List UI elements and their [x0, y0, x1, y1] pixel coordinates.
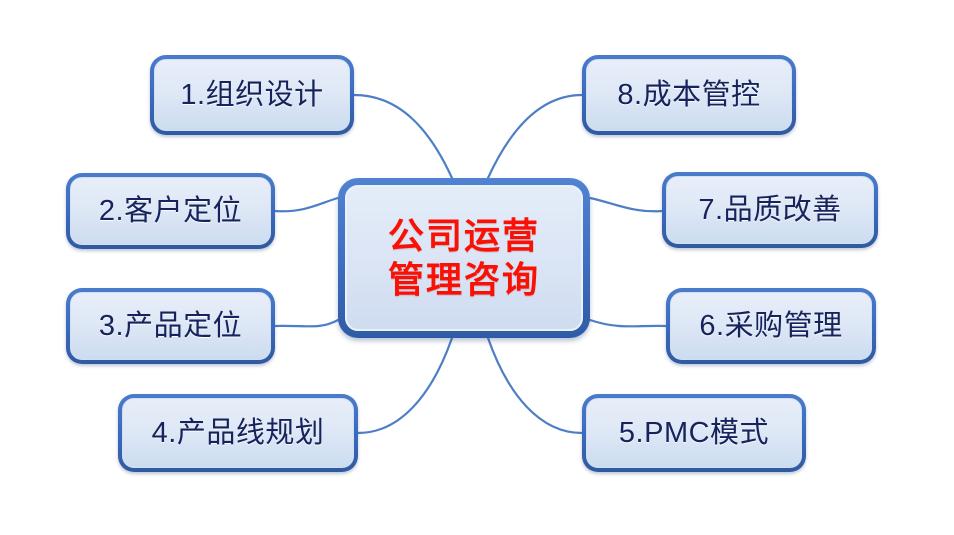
connector-node-2-to-center: [275, 198, 338, 211]
node-1-label: 1.组织设计: [180, 81, 323, 110]
node-8-label: 8.成本管控: [617, 81, 760, 110]
mindmap-diagram: 1.组织设计 2.客户定位 3.产品定位 4.产品线规划 5.PMC模式 6.采…: [0, 0, 954, 535]
connector-node-4-to-center: [358, 338, 452, 433]
node-3-product-positioning[interactable]: 3.产品定位: [66, 288, 275, 364]
node-2-customer-positioning[interactable]: 2.客户定位: [66, 173, 275, 249]
node-3-inner: 3.产品定位: [70, 292, 271, 360]
node-2-inner: 2.客户定位: [70, 177, 271, 245]
node-2-label: 2.客户定位: [99, 197, 242, 226]
node-6-label: 6.采购管理: [699, 312, 842, 341]
center-node-line-2: 管理咨询: [388, 258, 540, 302]
connector-node-3-to-center: [275, 320, 338, 326]
node-5-label: 5.PMC模式: [619, 419, 769, 448]
center-node-inner: 公司运营 管理咨询: [345, 185, 583, 331]
node-8-inner: 8.成本管控: [586, 59, 792, 131]
node-5-inner: 5.PMC模式: [586, 398, 802, 468]
node-7-quality-improvement[interactable]: 7.品质改善: [662, 172, 878, 248]
node-5-pmc-model[interactable]: 5.PMC模式: [582, 394, 806, 472]
node-7-inner: 7.品质改善: [666, 176, 874, 244]
node-6-inner: 6.采购管理: [670, 292, 872, 360]
node-8-cost-control[interactable]: 8.成本管控: [582, 55, 796, 135]
node-1-organizational-design[interactable]: 1.组织设计: [150, 55, 354, 135]
node-4-product-line-planning[interactable]: 4.产品线规划: [118, 394, 358, 472]
center-node-company-operations-consulting[interactable]: 公司运营 管理咨询: [338, 178, 590, 338]
node-3-label: 3.产品定位: [99, 312, 242, 341]
center-node-line-1: 公司运营: [388, 214, 540, 258]
node-7-label: 7.品质改善: [698, 196, 841, 225]
connector-node-8-to-center: [488, 95, 582, 178]
connector-node-5-to-center: [488, 338, 582, 433]
connector-node-7-to-center: [590, 198, 662, 211]
node-6-procurement-management[interactable]: 6.采购管理: [666, 288, 876, 364]
connector-node-6-to-center: [590, 320, 666, 326]
node-1-inner: 1.组织设计: [154, 59, 350, 131]
connector-node-1-to-center: [354, 95, 452, 178]
node-4-inner: 4.产品线规划: [122, 398, 354, 468]
node-4-label: 4.产品线规划: [152, 419, 325, 448]
